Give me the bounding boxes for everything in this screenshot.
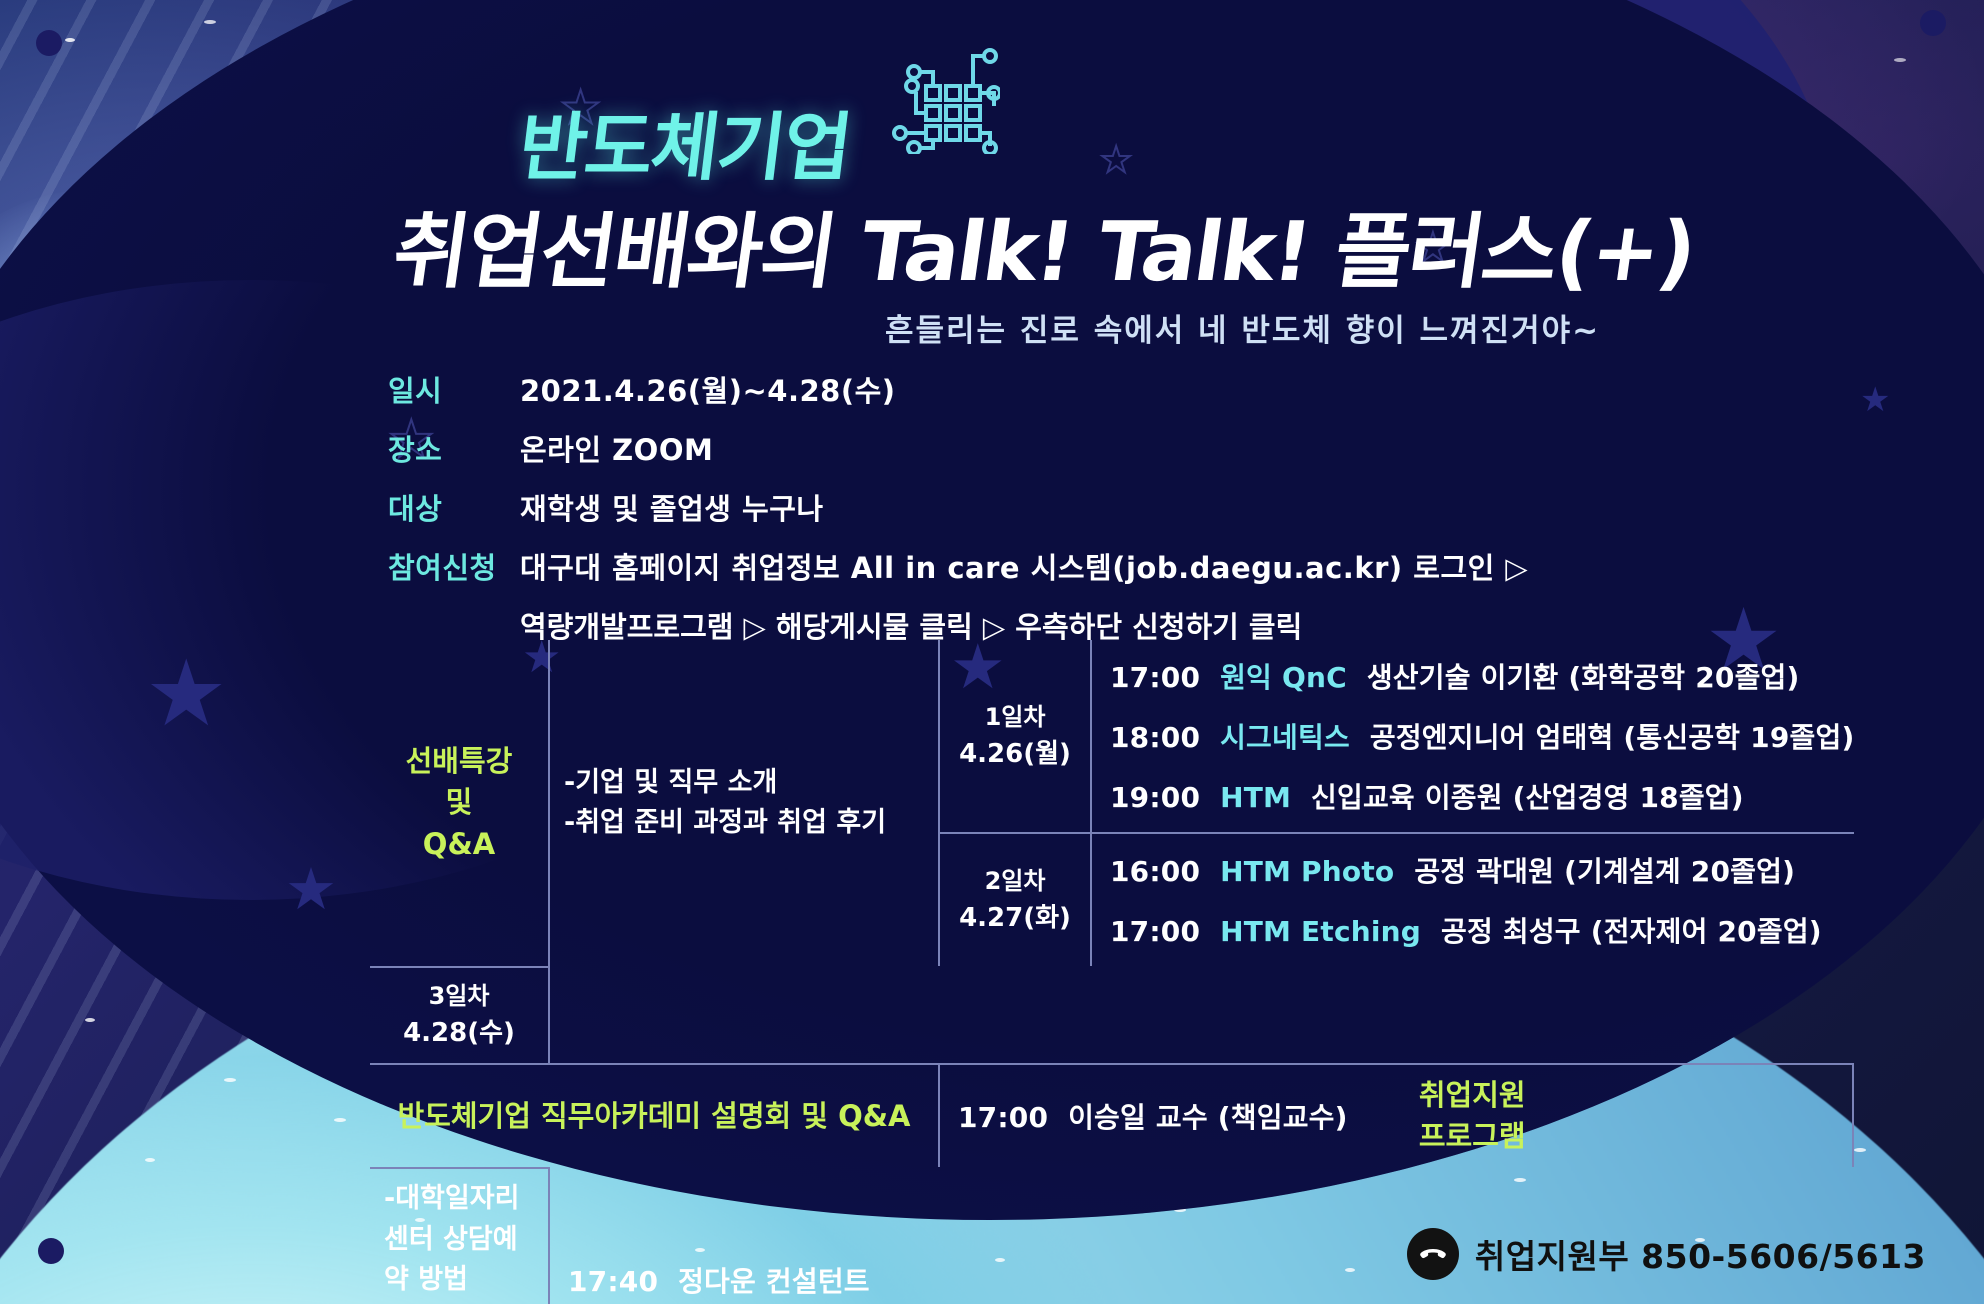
day-label: 1일차 [985,699,1046,735]
session-time: 17:00 [958,1101,1048,1134]
session-item: 19:00 HTM 신입교육 이종원 (산업경영 18졸업) [1110,776,1854,816]
poster: ★ ★ ★ ★ ★ ★ ★ ★ ★ ★ 반도체기업 취업선배와의 Talk! T… [0,0,1984,1304]
info-value: 온라인 ZOOM [520,427,713,469]
session-time: 17:00 [1110,661,1200,694]
session-company: HTM [1220,781,1291,814]
schedule-sessions-day-3b: 17:40 정다운 컨설턴트 [550,1167,940,1304]
session-detail: 생산기술 이기환 (화학공학 20졸업) [1367,661,1800,694]
session-item: 17:00 HTM Etching 공정 최성구 (전자제어 20졸업) [1110,910,1854,950]
schedule-support-label: 취업지원 프로그램 [1419,1075,1526,1157]
day-label: 3일차 [429,978,490,1014]
decorative-star: ★ [1860,380,1890,420]
footer-contact: 취업지원부 850-5606/5613 [1407,1228,1926,1280]
session-time: 17:00 [1110,915,1200,948]
day-date: 4.27(화) [959,899,1071,938]
session-time: 16:00 [1110,855,1200,888]
session-company: 원익 QnC [1220,661,1347,694]
event-info-list: 일시 2021.4.26(월)~4.28(수) 장소 온라인 ZOOM 대상 재… [388,368,1838,646]
info-row-date: 일시 2021.4.26(월)~4.28(수) [388,368,1838,410]
schedule-sessions-day-3a: 17:00 이승일 교수 (책임교수) [940,1063,1092,1167]
session-item: 17:00 이승일 교수 (책임교수) [958,1096,1092,1136]
session-company: HTM Photo [1220,855,1394,888]
info-value: 2021.4.26(월)~4.28(수) [520,368,896,410]
day-date: 4.28(수) [403,1014,515,1053]
schedule-day-1: 1일차 4.26(월) [940,640,1092,832]
decorative-star: ★ [145,640,227,747]
contact-text: 취업지원부 850-5606/5613 [1475,1230,1926,1278]
circuit-chip-icon [880,42,1000,158]
corner-dot [38,1238,64,1264]
session-detail: 공정엔지니어 엄태혁 (통신공학 19졸업) [1370,721,1855,754]
info-row-place: 장소 온라인 ZOOM [388,427,1838,469]
decorative-star-outline: ★ [1100,140,1132,181]
info-value: 재학생 및 졸업생 누구나 [520,486,824,528]
schedule-sessions-day-1: 17:00 원익 QnC 생산기술 이기환 (화학공학 20졸업) 18:00 … [1092,640,1854,832]
session-item: 16:00 HTM Photo 공정 곽대원 (기계설계 20졸업) [1110,850,1854,890]
day-date: 4.26(월) [959,735,1071,774]
schedule-description-text: -기업 및 직무 소개 -취업 준비 과정과 취업 후기 [564,763,886,844]
schedule-support-description-text: -대학일자리센터 상담예약 방법 -청년고용정책 안내 [384,1179,534,1304]
schedule-description: -기업 및 직무 소개 -취업 준비 과정과 취업 후기 [550,640,940,966]
schedule-day-2: 2일차 4.27(화) [940,832,1092,966]
schedule-sessions-day-2: 16:00 HTM Photo 공정 곽대원 (기계설계 20졸업) 17:00… [1092,832,1854,966]
session-company: HTM Etching [1220,915,1421,948]
info-value: 대구대 홈페이지 취업정보 All in care 시스템(job.daegu.… [520,545,1528,587]
session-detail: 공정 최성구 (전자제어 20졸업) [1441,915,1822,948]
info-label: 대상 [388,486,520,528]
phone-icon [1407,1228,1459,1280]
info-label: 참여신청 [388,545,520,587]
schedule-academy-title: 반도체기업 직무아카데미 설명회 및 Q&A [370,1063,940,1167]
info-label: 일시 [388,368,520,410]
schedule-academy-label: 반도체기업 직무아카데미 설명회 및 Q&A [398,1096,911,1137]
info-label: 장소 [388,427,520,469]
schedule-category-label: 선배특강 및 Q&A [406,741,513,865]
eyebrow-title: 반도체기업 [513,88,857,195]
page-title: 취업선배와의 Talk! Talk! 플러스(+) [387,185,1703,304]
session-item: 17:40 정다운 컨설턴트 [568,1260,940,1300]
schedule-table: 선배특강 및 Q&A -기업 및 직무 소개 -취업 준비 과정과 취업 후기 … [370,640,1770,1304]
session-time: 18:00 [1110,721,1200,754]
session-time: 19:00 [1110,781,1200,814]
session-detail: 공정 곽대원 (기계설계 20졸업) [1414,855,1795,888]
session-detail: 신입교육 이종원 (산업경영 18졸업) [1311,781,1744,814]
session-item: 18:00 시그네틱스 공정엔지니어 엄태혁 (통신공학 19졸업) [1110,716,1854,756]
schedule-support-description: -대학일자리센터 상담예약 방법 -청년고용정책 안내 [370,1167,550,1304]
session-company: 시그네틱스 [1220,721,1350,754]
schedule-support-category: 취업지원 프로그램 [1092,1063,1854,1167]
session-time: 17:40 [568,1265,658,1298]
day-label: 2일차 [985,863,1046,899]
session-item: 17:00 원익 QnC 생산기술 이기환 (화학공학 20졸업) [1110,656,1854,696]
schedule-category: 선배특강 및 Q&A [370,640,550,966]
info-row-apply: 참여신청 대구대 홈페이지 취업정보 All in care 시스템(job.d… [388,545,1838,587]
decorative-star: ★ [285,855,337,923]
session-detail: 정다운 컨설턴트 [678,1265,870,1298]
info-row-audience: 대상 재학생 및 졸업생 누구나 [388,486,1838,528]
corner-dot [36,30,62,56]
schedule-day-3: 3일차 4.28(수) [370,966,550,1063]
corner-dot [1920,10,1946,36]
tagline: 흔들리는 진로 속에서 네 반도체 향이 느껴진거야~ [885,305,1600,350]
